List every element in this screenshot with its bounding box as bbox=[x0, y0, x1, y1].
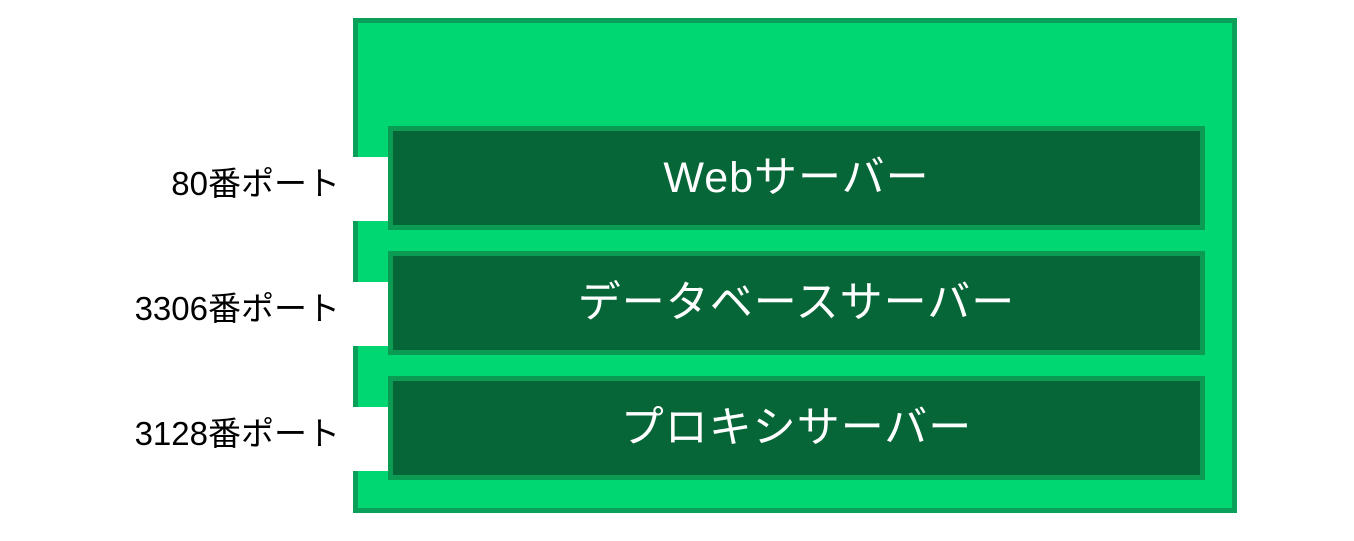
port-label-proxy: 3128番ポート bbox=[0, 417, 340, 450]
server-architecture-diagram: サーバー Webサーバー データベースサーバー プロキシサーバー 80番ポート … bbox=[0, 0, 1354, 541]
service-box-proxy: プロキシサーバー bbox=[388, 376, 1205, 480]
port-label-database: 3306番ポート bbox=[0, 292, 340, 325]
port-notch-database bbox=[353, 282, 389, 346]
port-label-web: 80番ポート bbox=[0, 167, 340, 200]
service-box-database: データベースサーバー bbox=[388, 251, 1205, 355]
port-notch-proxy bbox=[353, 407, 389, 471]
service-box-web: Webサーバー bbox=[388, 126, 1205, 230]
port-notch-web bbox=[353, 157, 389, 221]
service-label-web: Webサーバー bbox=[663, 157, 929, 200]
server-panel-title: サーバー bbox=[33, 26, 217, 72]
service-label-database: データベースサーバー bbox=[578, 282, 1015, 325]
service-label-proxy: プロキシサーバー bbox=[621, 407, 973, 450]
